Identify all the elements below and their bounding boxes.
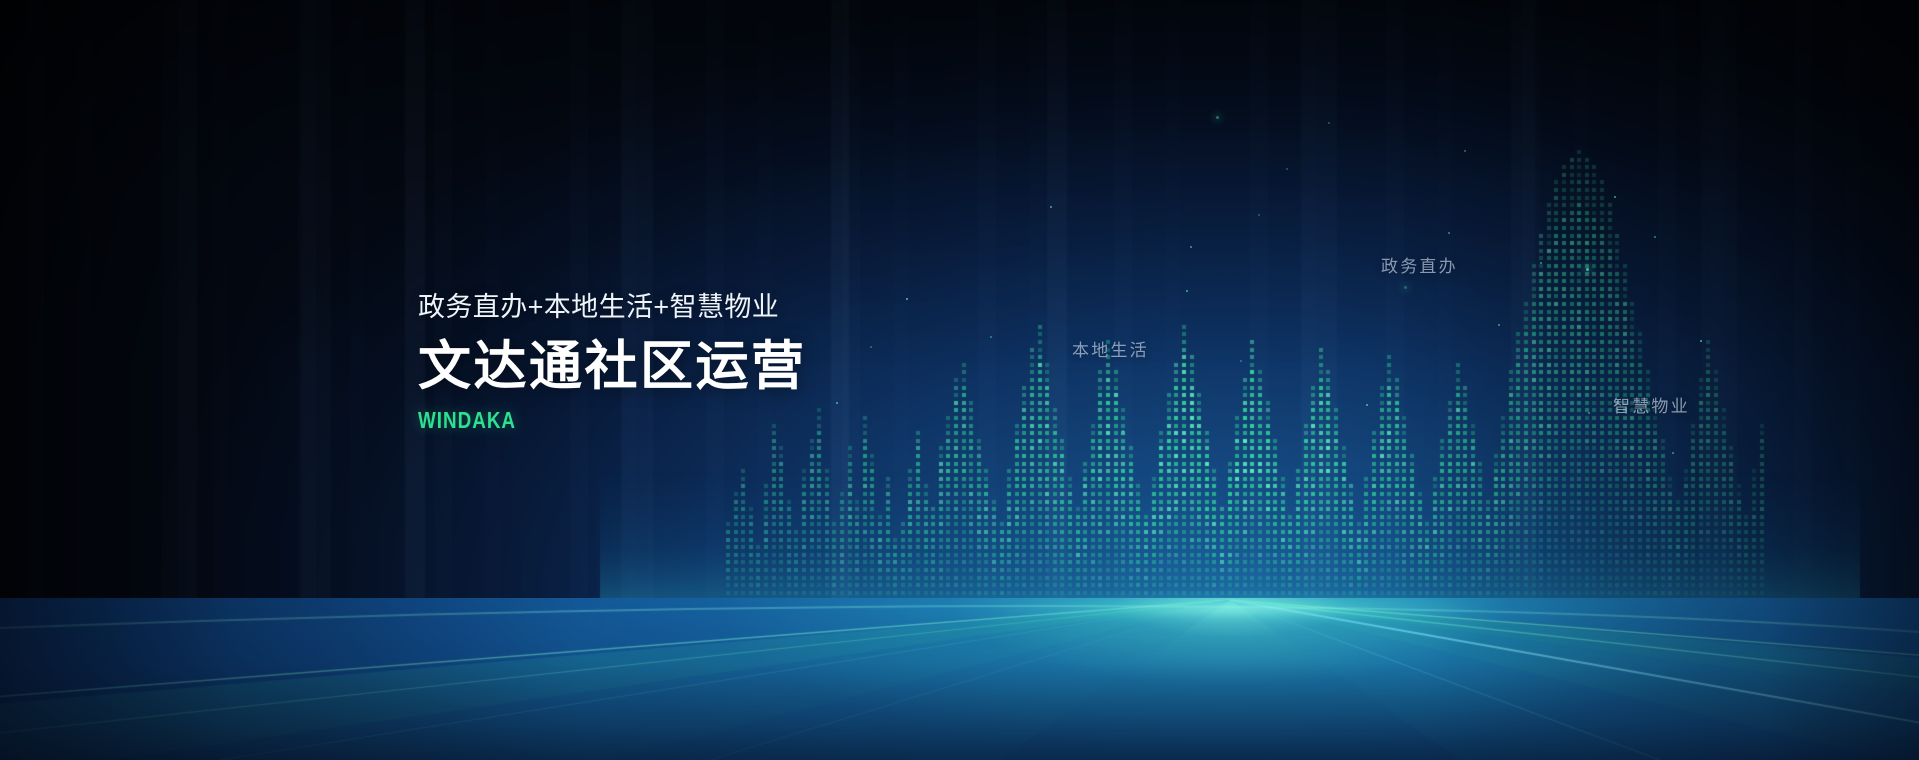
particle-dot: [1328, 122, 1330, 124]
particle-dot: [1540, 262, 1542, 264]
particle-dot: [1586, 268, 1589, 271]
particle-dot: [1672, 452, 1674, 454]
particle-dot: [1498, 324, 1500, 326]
label-zhihui-wuye: 智慧物业: [1613, 398, 1690, 415]
label-zhengwu-zhiban: 政务直办: [1381, 258, 1458, 275]
hero-title: 文达通社区运营: [418, 340, 807, 393]
particle-dot: [1050, 206, 1052, 208]
particle-dot: [1588, 412, 1590, 414]
particle-dot: [1258, 214, 1260, 216]
brand-wordmark-windaka: WINDAKA: [418, 409, 737, 432]
particle-dot: [1186, 290, 1188, 292]
hero-banner: 政务直办+本地生活+智慧物业 文达通社区运营 WINDAKA 本地生活政务直办智…: [0, 0, 1919, 760]
particle-dot: [906, 298, 908, 300]
particle-dot: [1240, 360, 1242, 362]
particle-dot: [836, 402, 838, 404]
particle-dot: [1654, 236, 1656, 238]
hero-copy-block: 政务直办+本地生活+智慧物业 文达通社区运营 WINDAKA: [418, 294, 807, 432]
hero-subtitle: 政务直办+本地生活+智慧物业: [418, 294, 807, 321]
particle-dot: [1614, 196, 1616, 198]
particle-dot: [1190, 246, 1192, 248]
floating-particles: [0, 0, 1919, 760]
particle-dot: [1286, 168, 1288, 170]
particle-dot: [1448, 232, 1450, 234]
particle-dot: [1404, 286, 1407, 289]
particle-dot: [1700, 340, 1702, 342]
particle-dot: [1216, 116, 1219, 119]
particle-dot: [1366, 404, 1368, 406]
particle-dot: [1122, 430, 1124, 432]
label-bendi-shenghuo: 本地生活: [1072, 342, 1149, 359]
particle-dot: [990, 336, 992, 338]
particle-dot: [870, 346, 872, 348]
particle-dot: [1464, 150, 1466, 152]
